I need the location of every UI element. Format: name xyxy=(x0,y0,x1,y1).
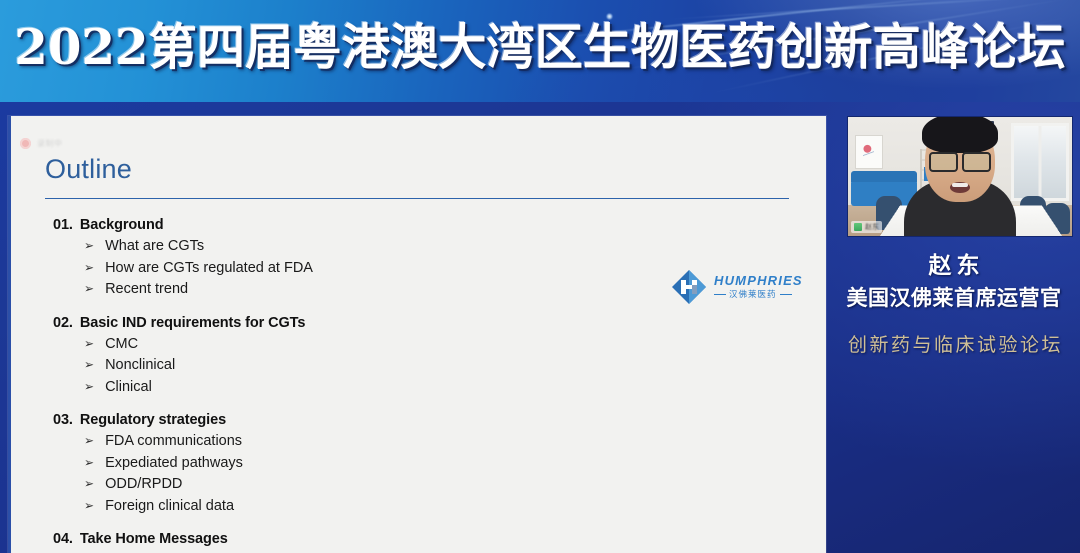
outline-sub-item: ➢ Foreign clinical data xyxy=(84,496,826,518)
outline-section-heading: 04. Take Home Messages xyxy=(53,528,826,550)
outline-section: 04. Take Home Messages xyxy=(11,528,826,550)
outline-sub-label: FDA communications xyxy=(105,431,242,453)
arrow-bullet-icon: ➢ xyxy=(84,236,94,258)
forum-name: 创新药与临床试验论坛 xyxy=(828,331,1080,359)
speaker-role: 美国汉佛莱首席运营官 xyxy=(828,283,1080,314)
speaker-video-feed[interactable]: 赵东 xyxy=(848,117,1072,236)
outline-sub-label: Recent trend xyxy=(105,279,188,301)
arrow-bullet-icon: ➢ xyxy=(84,355,94,377)
outline-sub-label: Nonclinical xyxy=(105,355,175,377)
speaker-mouth xyxy=(950,182,970,193)
arrow-bullet-icon: ➢ xyxy=(84,333,94,355)
outline-sub-item: ➢ How are CGTs regulated at FDA xyxy=(84,258,826,280)
record-dot-icon xyxy=(20,138,31,149)
participant-video-icon xyxy=(854,223,862,231)
outline-sub-item: ➢ Recent trend xyxy=(84,279,826,301)
outline-sub-label: What are CGTs xyxy=(105,236,204,258)
outline-section-number: 02. xyxy=(53,312,73,334)
outline-sub-label: ODD/RPDD xyxy=(105,474,182,496)
outline-section: 02. Basic IND requirements for CGTs ➢ CM… xyxy=(11,312,826,399)
outline-sub-item: ➢ Nonclinical xyxy=(84,355,826,377)
outline-list: 01. Background ➢ What are CGTs ➢ How are… xyxy=(11,214,826,550)
outline-section-title: Regulatory strategies xyxy=(80,409,226,431)
arrow-bullet-icon: ➢ xyxy=(84,431,94,453)
outline-sub-label: Expediated pathways xyxy=(105,453,243,475)
recording-indicator: 录制中 xyxy=(20,138,63,149)
outline-sub-item: ➢ What are CGTs xyxy=(84,236,826,258)
arrow-bullet-icon: ➢ xyxy=(84,474,94,496)
outline-section-number: 01. xyxy=(53,214,73,236)
presentation-slide[interactable]: 录制中 Outline HUMPHRIES 汉佛莱医药 xyxy=(8,116,826,553)
outline-section-title: Basic IND requirements for CGTs xyxy=(80,312,305,334)
arrow-bullet-icon: ➢ xyxy=(84,495,94,517)
outline-sub-item: ➢ Expediated pathways xyxy=(84,453,826,475)
outline-section: 01. Background ➢ What are CGTs ➢ How are… xyxy=(11,214,826,301)
event-title: 2022第四届粤港澳大湾区生物医药创新高峰论坛 xyxy=(8,14,1072,80)
video-window xyxy=(1011,123,1069,201)
outline-sub-item: ➢ CMC xyxy=(84,334,826,356)
outline-section-heading: 02. Basic IND requirements for CGTs xyxy=(53,312,826,334)
event-banner: 2022第四届粤港澳大湾区生物医药创新高峰论坛 xyxy=(0,0,1080,102)
slide-title: Outline xyxy=(45,154,132,185)
video-badge-label: 赵东 xyxy=(865,222,879,232)
presentation-stage: 2022第四届粤港澳大湾区生物医药创新高峰论坛 录制中 Outline HUMP… xyxy=(0,0,1080,553)
outline-sub-label: How are CGTs regulated at FDA xyxy=(105,258,313,280)
outline-sub-item: ➢ Clinical xyxy=(84,377,826,399)
glasses-icon xyxy=(929,152,991,168)
outline-section-number: 04. xyxy=(53,528,73,550)
outline-section-title: Background xyxy=(80,214,164,236)
outline-sub-item: ➢ ODD/RPDD xyxy=(84,474,826,496)
speaker-info-panel: 赵东 美国汉佛莱首席运营官 创新药与临床试验论坛 xyxy=(828,250,1080,359)
outline-section: 03. Regulatory strategies ➢ FDA communic… xyxy=(11,409,826,517)
outline-section-heading: 01. Background xyxy=(53,214,826,236)
speaker-name: 赵东 xyxy=(828,250,1080,283)
outline-sub-item: ➢ FDA communications xyxy=(84,431,826,453)
speaker-hair xyxy=(922,117,998,153)
recording-label: 录制中 xyxy=(37,138,63,149)
video-name-badge: 赵东 xyxy=(851,221,882,233)
arrow-bullet-icon: ➢ xyxy=(84,452,94,474)
outline-section-number: 03. xyxy=(53,409,73,431)
arrow-bullet-icon: ➢ xyxy=(84,376,94,398)
outline-section-heading: 03. Regulatory strategies xyxy=(53,409,826,431)
outline-section-title: Take Home Messages xyxy=(80,528,228,550)
speaker-head xyxy=(925,118,995,202)
arrow-bullet-icon: ➢ xyxy=(84,257,94,279)
arrow-bullet-icon: ➢ xyxy=(84,279,94,301)
title-divider xyxy=(45,198,789,199)
outline-sub-label: CMC xyxy=(105,334,138,356)
video-wall-picture xyxy=(855,135,883,169)
outline-sub-label: Foreign clinical data xyxy=(105,496,234,518)
outline-sub-label: Clinical xyxy=(105,377,152,399)
